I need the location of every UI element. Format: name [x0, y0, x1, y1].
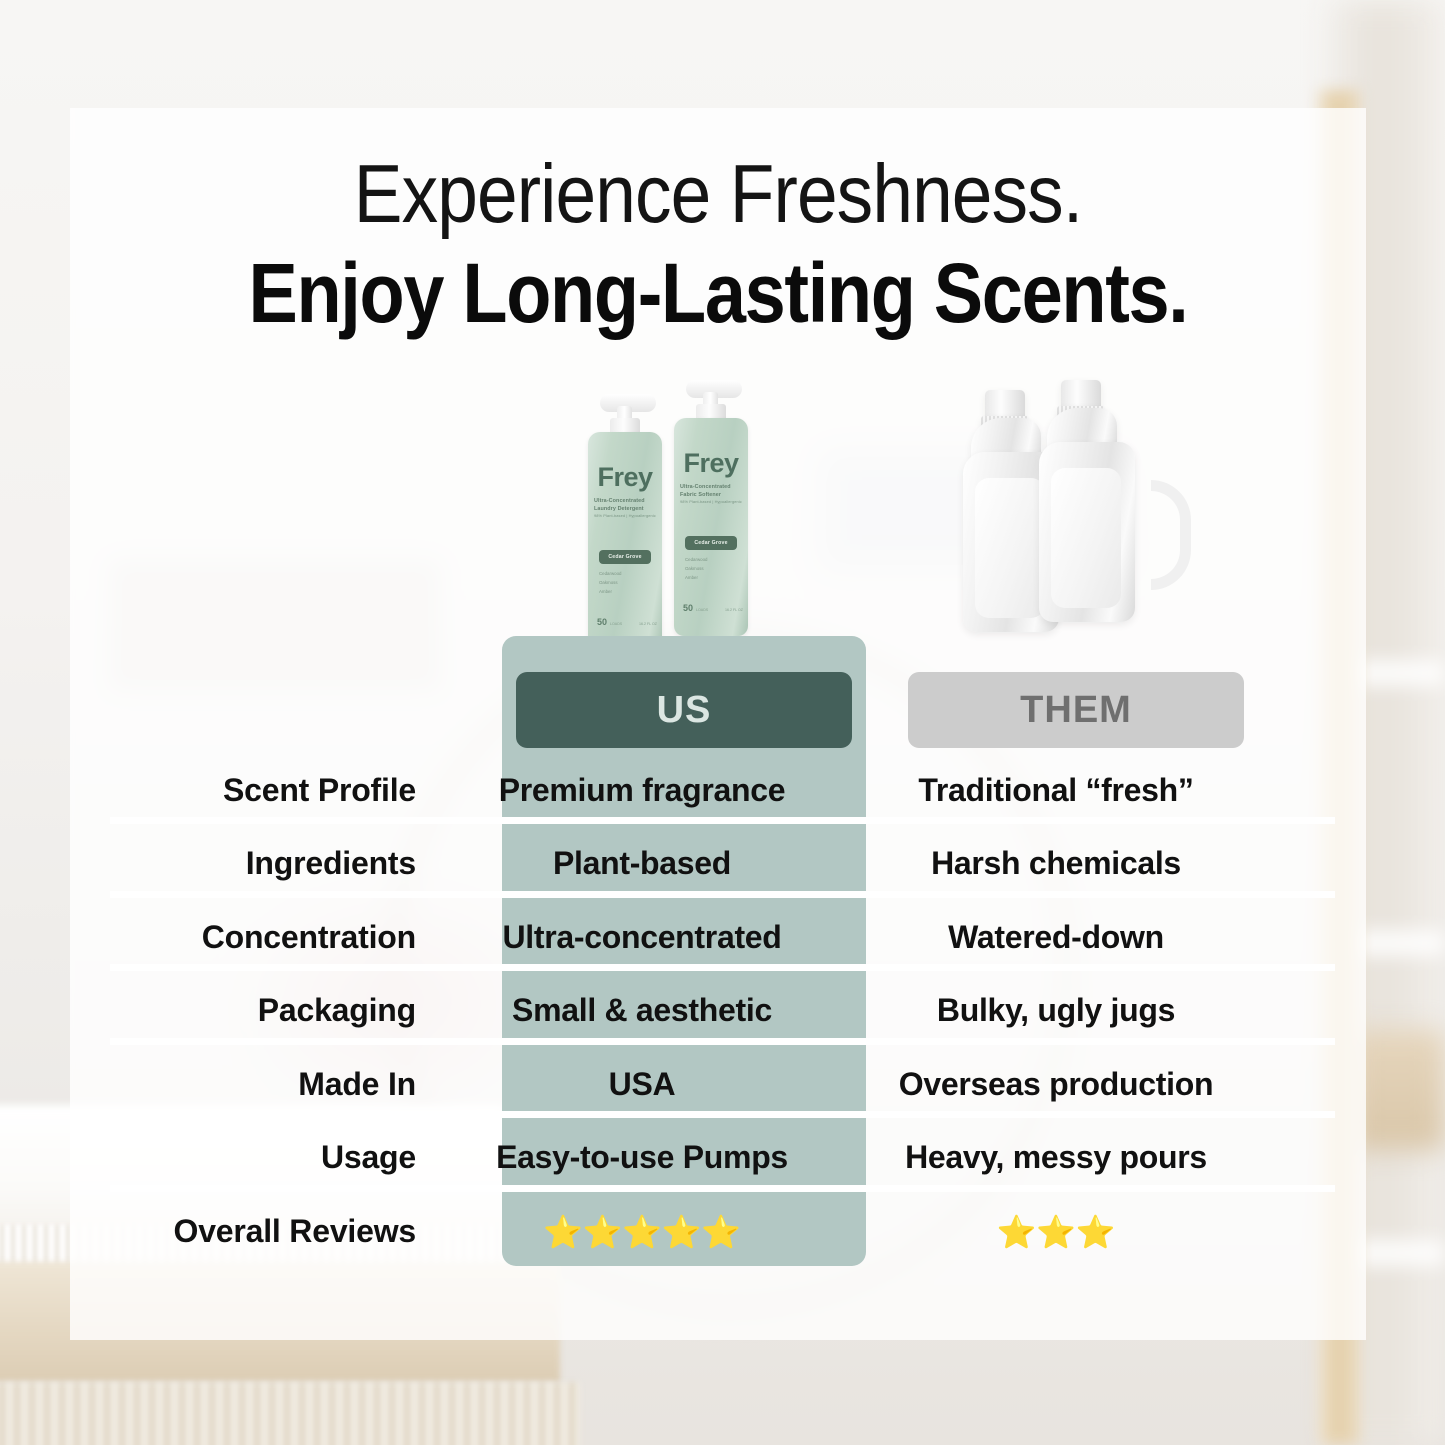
row-label: Usage [110, 1139, 460, 1176]
row-divider [110, 891, 1335, 898]
comparison-table: Scent Profile Premium fragrance Traditio… [0, 0, 1445, 1445]
row-label: Ingredients [110, 845, 460, 882]
row-them-value: Bulky, ugly jugs [866, 992, 1246, 1029]
row-us-value: Ultra-concentrated [460, 919, 824, 956]
row-label: Scent Profile [110, 772, 460, 809]
row-them-value: Heavy, messy pours [866, 1139, 1246, 1176]
row-label: Overall Reviews [110, 1213, 460, 1250]
row-divider [110, 964, 1335, 971]
row-them-value: Watered-down [866, 919, 1246, 956]
row-them-value: Overseas production [866, 1066, 1246, 1103]
row-label: Concentration [110, 919, 460, 956]
promo-graphic: Experience Freshness. Enjoy Long-Lasting… [0, 0, 1445, 1445]
row-us-value: Plant-based [460, 845, 824, 882]
row-them-value: Traditional “fresh” [866, 772, 1246, 809]
table-row: Usage Easy-to-use Pumps Heavy, messy pou… [110, 1121, 1335, 1194]
row-label: Packaging [110, 992, 460, 1029]
row-divider [110, 817, 1335, 824]
row-them-value: Harsh chemicals [866, 845, 1246, 882]
row-us-value: Small & aesthetic [460, 992, 824, 1029]
row-divider [110, 1038, 1335, 1045]
row-us-value: Premium fragrance [460, 772, 824, 809]
row-label: Made In [110, 1066, 460, 1103]
table-row: Overall Reviews ⭐⭐⭐⭐⭐ ⭐⭐⭐ [110, 1195, 1335, 1268]
table-row: Packaging Small & aesthetic Bulky, ugly … [110, 974, 1335, 1047]
table-row: Ingredients Plant-based Harsh chemicals [110, 827, 1335, 900]
row-divider [110, 1111, 1335, 1118]
row-divider [110, 1185, 1335, 1192]
them-star-rating: ⭐⭐⭐ [866, 1216, 1246, 1248]
us-star-rating: ⭐⭐⭐⭐⭐ [460, 1216, 824, 1248]
row-us-value: USA [460, 1066, 824, 1103]
row-us-value: Easy-to-use Pumps [460, 1139, 824, 1176]
